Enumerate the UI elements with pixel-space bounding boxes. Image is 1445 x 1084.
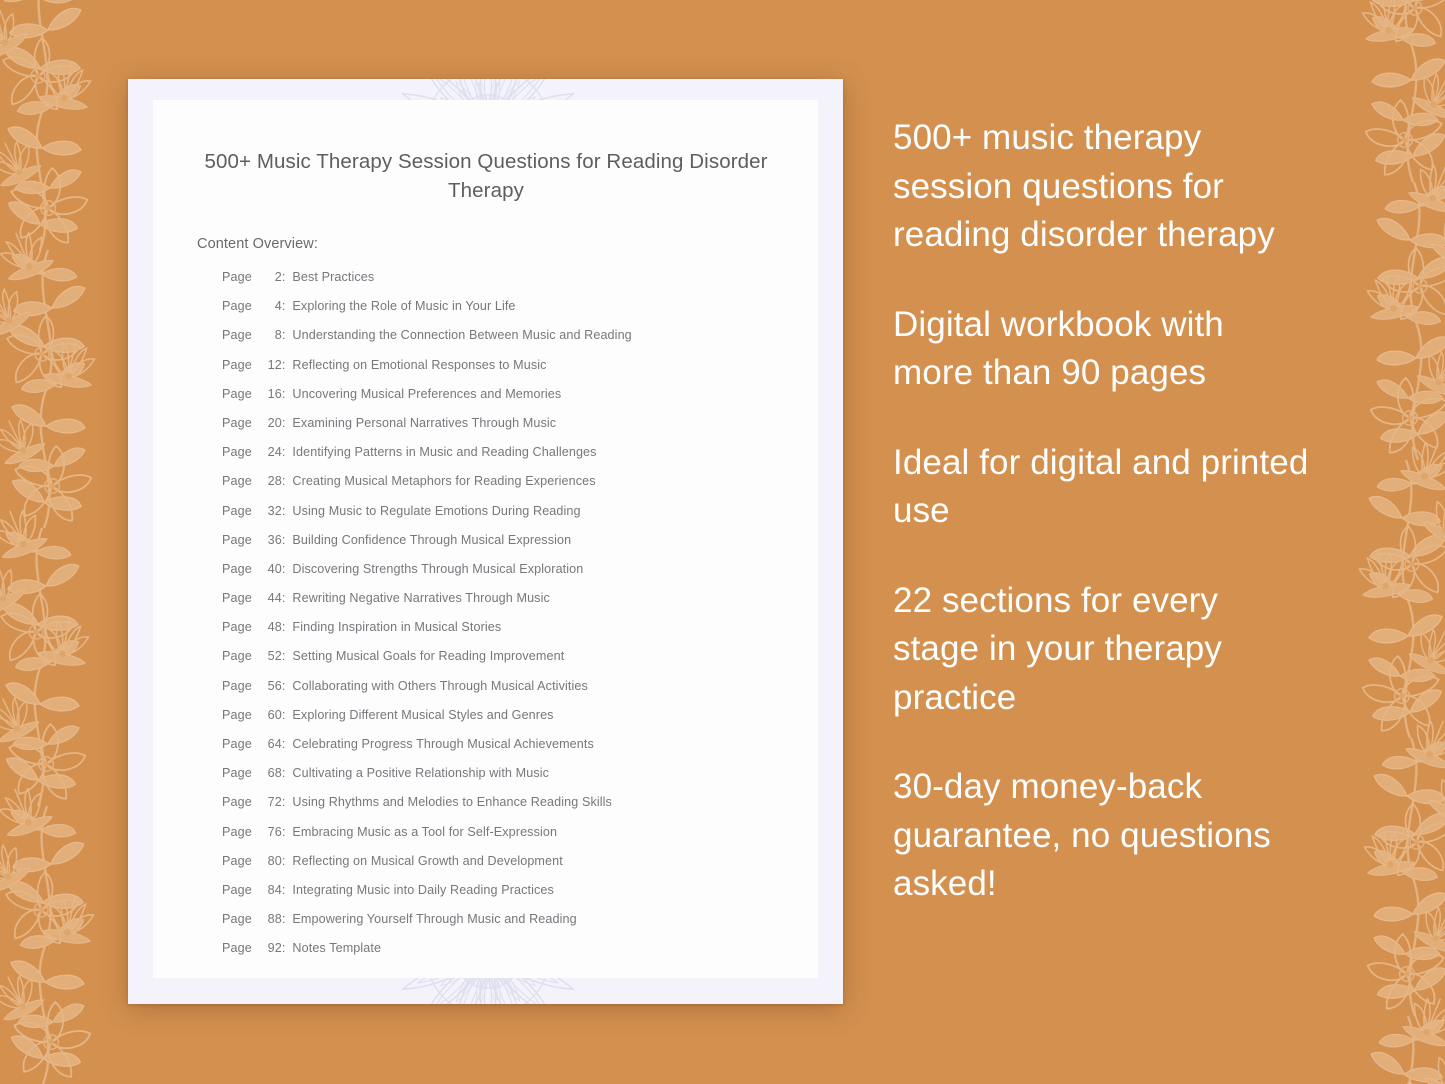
toc-page-number: 56: [256, 679, 282, 693]
table-of-contents: Page2:Best PracticesPage4:Exploring the …: [222, 270, 798, 971]
content-overview-label: Content Overview:: [197, 236, 318, 252]
toc-entry-title: Rewriting Negative Narratives Through Mu…: [292, 591, 549, 605]
toc-separator: :: [282, 270, 286, 284]
toc-entry-title: Using Rhythms and Melodies to Enhance Re…: [292, 795, 612, 809]
toc-separator: :: [282, 328, 286, 342]
marketing-copy-block: Ideal for digital and printed use: [893, 439, 1313, 536]
product-listing-image: 500+ Music Therapy Session Questions for…: [0, 0, 1445, 1084]
toc-page-number: 92: [256, 941, 282, 955]
toc-row: Page2:Best Practices: [222, 270, 798, 299]
toc-page-word: Page: [222, 533, 252, 547]
toc-entry-title: Setting Musical Goals for Reading Improv…: [292, 649, 564, 663]
toc-separator: :: [282, 299, 286, 313]
toc-page-word: Page: [222, 387, 252, 401]
workbook-preview-card: 500+ Music Therapy Session Questions for…: [128, 79, 843, 1004]
toc-separator: :: [282, 620, 286, 634]
toc-page-word: Page: [222, 825, 252, 839]
toc-entry-title: Integrating Music into Daily Reading Pra…: [292, 883, 554, 897]
toc-page-number: 52: [256, 649, 282, 663]
toc-entry-title: Uncovering Musical Preferences and Memor…: [292, 387, 561, 401]
toc-page-word: Page: [222, 679, 252, 693]
toc-separator: :: [282, 795, 286, 809]
toc-page-number: 48: [256, 620, 282, 634]
toc-row: Page52:Setting Musical Goals for Reading…: [222, 649, 798, 678]
toc-entry-title: Notes Template: [292, 941, 381, 955]
toc-separator: :: [282, 504, 286, 518]
toc-entry-title: Understanding the Connection Between Mus…: [292, 328, 631, 342]
toc-page-word: Page: [222, 649, 252, 663]
toc-page-number: 24: [256, 445, 282, 459]
toc-entry-title: Examining Personal Narratives Through Mu…: [292, 416, 556, 430]
toc-row: Page88:Empowering Yourself Through Music…: [222, 912, 798, 941]
toc-row: Page80:Reflecting on Musical Growth and …: [222, 854, 798, 883]
toc-row: Page56:Collaborating with Others Through…: [222, 679, 798, 708]
toc-page-word: Page: [222, 562, 252, 576]
toc-page-number: 80: [256, 854, 282, 868]
toc-page-number: 68: [256, 766, 282, 780]
toc-page-word: Page: [222, 299, 252, 313]
workbook-page: 500+ Music Therapy Session Questions for…: [153, 100, 818, 978]
toc-separator: :: [282, 416, 286, 430]
toc-row: Page72:Using Rhythms and Melodies to Enh…: [222, 795, 798, 824]
toc-page-word: Page: [222, 912, 252, 926]
toc-row: Page40:Discovering Strengths Through Mus…: [222, 562, 798, 591]
toc-entry-title: Building Confidence Through Musical Expr…: [292, 533, 571, 547]
toc-page-word: Page: [222, 708, 252, 722]
toc-page-word: Page: [222, 766, 252, 780]
toc-entry-title: Cultivating a Positive Relationship with…: [292, 766, 549, 780]
toc-page-number: 16: [256, 387, 282, 401]
toc-page-word: Page: [222, 416, 252, 430]
toc-row: Page64:Celebrating Progress Through Musi…: [222, 737, 798, 766]
marketing-copy-block: 22 sections for every stage in your ther…: [893, 577, 1313, 723]
marketing-copy: 500+ music therapy session questions for…: [893, 114, 1313, 909]
toc-separator: :: [282, 737, 286, 751]
toc-separator: :: [282, 591, 286, 605]
marketing-copy-block: 30-day money-back guarantee, no question…: [893, 763, 1313, 909]
toc-separator: :: [282, 358, 286, 372]
toc-page-number: 4: [256, 299, 282, 313]
floral-vine-icon: [1319, 0, 1445, 1084]
toc-row: Page20:Examining Personal Narratives Thr…: [222, 416, 798, 445]
toc-row: Page84:Integrating Music into Daily Read…: [222, 883, 798, 912]
toc-row: Page8:Understanding the Connection Betwe…: [222, 328, 798, 357]
toc-row: Page60:Exploring Different Musical Style…: [222, 708, 798, 737]
toc-page-word: Page: [222, 474, 252, 488]
toc-separator: :: [282, 474, 286, 488]
toc-page-word: Page: [222, 270, 252, 284]
marketing-copy-block: Digital workbook with more than 90 pages: [893, 301, 1313, 398]
toc-page-word: Page: [222, 445, 252, 459]
toc-row: Page44:Rewriting Negative Narratives Thr…: [222, 591, 798, 620]
toc-page-word: Page: [222, 358, 252, 372]
toc-row: Page4:Exploring the Role of Music in You…: [222, 299, 798, 328]
toc-entry-title: Collaborating with Others Through Musica…: [292, 679, 587, 693]
toc-page-number: 44: [256, 591, 282, 605]
toc-page-number: 20: [256, 416, 282, 430]
toc-page-number: 72: [256, 795, 282, 809]
toc-row: Page36:Building Confidence Through Music…: [222, 533, 798, 562]
toc-row: Page24:Identifying Patterns in Music and…: [222, 445, 798, 474]
toc-page-word: Page: [222, 737, 252, 751]
toc-entry-title: Embracing Music as a Tool for Self-Expre…: [292, 825, 557, 839]
toc-page-word: Page: [222, 620, 252, 634]
toc-separator: :: [282, 679, 286, 693]
toc-row: Page32:Using Music to Regulate Emotions …: [222, 504, 798, 533]
toc-entry-title: Exploring the Role of Music in Your Life: [292, 299, 515, 313]
toc-row: Page28:Creating Musical Metaphors for Re…: [222, 474, 798, 503]
toc-page-number: 40: [256, 562, 282, 576]
toc-row: Page92:Notes Template: [222, 941, 798, 970]
toc-page-number: 64: [256, 737, 282, 751]
toc-page-number: 2: [256, 270, 282, 284]
toc-page-number: 12: [256, 358, 282, 372]
toc-entry-title: Creating Musical Metaphors for Reading E…: [292, 474, 595, 488]
toc-page-word: Page: [222, 504, 252, 518]
toc-page-number: 36: [256, 533, 282, 547]
marketing-copy-block: 500+ music therapy session questions for…: [893, 114, 1313, 260]
toc-row: Page12:Reflecting on Emotional Responses…: [222, 358, 798, 387]
toc-separator: :: [282, 562, 286, 576]
toc-separator: :: [282, 533, 286, 547]
toc-entry-title: Reflecting on Emotional Responses to Mus…: [292, 358, 546, 372]
toc-page-number: 60: [256, 708, 282, 722]
toc-page-number: 76: [256, 825, 282, 839]
floral-vine-icon: [0, 0, 136, 1084]
page-title: 500+ Music Therapy Session Questions for…: [197, 147, 775, 205]
toc-entry-title: Discovering Strengths Through Musical Ex…: [292, 562, 583, 576]
toc-separator: :: [282, 883, 286, 897]
toc-page-word: Page: [222, 591, 252, 605]
toc-separator: :: [282, 912, 286, 926]
toc-page-number: 88: [256, 912, 282, 926]
toc-separator: :: [282, 766, 286, 780]
toc-entry-title: Using Music to Regulate Emotions During …: [292, 504, 580, 518]
toc-separator: :: [282, 649, 286, 663]
toc-page-number: 32: [256, 504, 282, 518]
toc-page-word: Page: [222, 883, 252, 897]
toc-separator: :: [282, 941, 286, 955]
toc-page-number: 84: [256, 883, 282, 897]
toc-row: Page76:Embracing Music as a Tool for Sel…: [222, 825, 798, 854]
toc-row: Page16:Uncovering Musical Preferences an…: [222, 387, 798, 416]
toc-page-number: 28: [256, 474, 282, 488]
toc-page-word: Page: [222, 854, 252, 868]
toc-separator: :: [282, 854, 286, 868]
toc-entry-title: Identifying Patterns in Music and Readin…: [292, 445, 596, 459]
toc-row: Page48:Finding Inspiration in Musical St…: [222, 620, 798, 649]
toc-separator: :: [282, 387, 286, 401]
toc-entry-title: Exploring Different Musical Styles and G…: [292, 708, 553, 722]
toc-row: Page68:Cultivating a Positive Relationsh…: [222, 766, 798, 795]
toc-entry-title: Reflecting on Musical Growth and Develop…: [292, 854, 562, 868]
toc-entry-title: Best Practices: [292, 270, 374, 284]
toc-page-number: 8: [256, 328, 282, 342]
toc-page-word: Page: [222, 941, 252, 955]
toc-page-word: Page: [222, 795, 252, 809]
toc-entry-title: Celebrating Progress Through Musical Ach…: [292, 737, 593, 751]
toc-separator: :: [282, 708, 286, 722]
toc-separator: :: [282, 825, 286, 839]
toc-separator: :: [282, 445, 286, 459]
toc-entry-title: Empowering Yourself Through Music and Re…: [292, 912, 576, 926]
toc-page-word: Page: [222, 328, 252, 342]
toc-entry-title: Finding Inspiration in Musical Stories: [292, 620, 501, 634]
